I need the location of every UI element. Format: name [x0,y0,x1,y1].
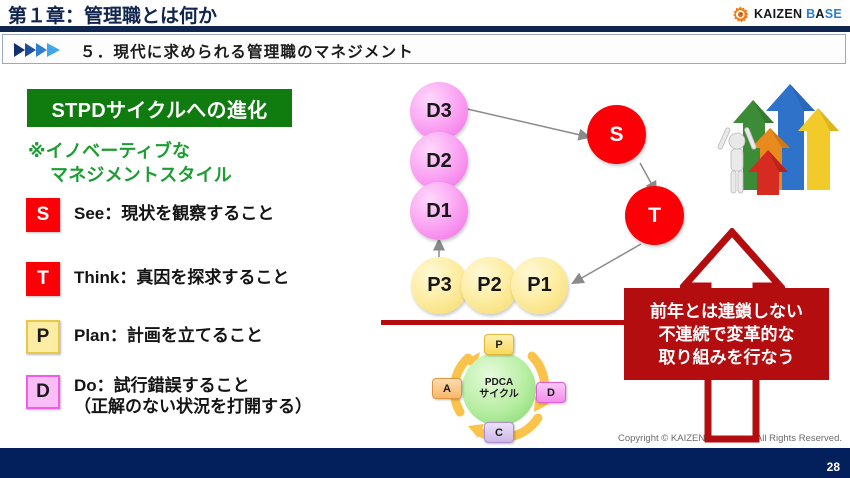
banner-line-2: 不連続で変革的な [659,323,795,346]
arrow-d3-to-s [463,108,589,137]
banner-line-3: 取り組みを行なう [659,346,795,369]
banner-line-1: 前年とは連鎖しない [650,300,803,323]
arrow-t-to-p1 [573,244,641,283]
node-s: S [587,105,646,164]
node-d1: D1 [410,182,468,240]
node-p1: P1 [511,257,568,314]
key-message-banner: 前年とは連鎖しない 不連続で変革的な 取り組みを行なう [624,288,829,380]
node-p2: P2 [461,257,518,314]
node-t: T [625,186,684,245]
slide-canvas: 第１章：管理職とは何か KAIZEN BASE [0,0,850,478]
node-p3: P3 [411,257,468,314]
